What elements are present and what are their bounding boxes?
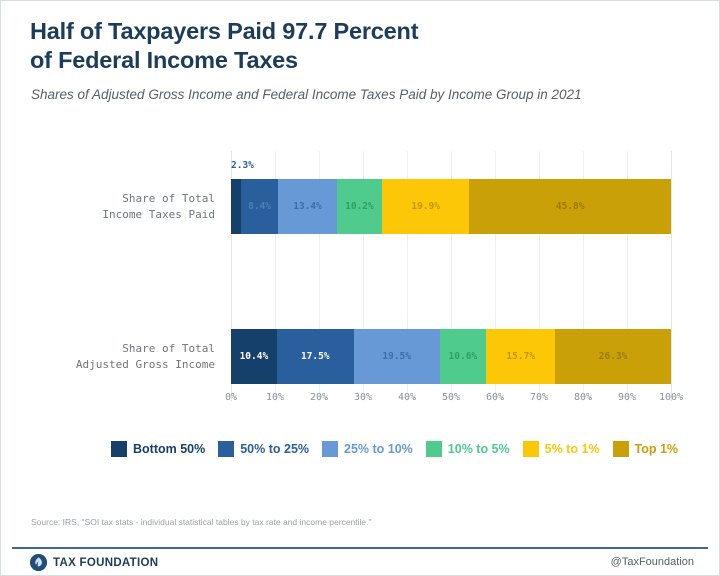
stacked-bar: 8.4%13.4%10.2%19.9%45.8% <box>231 179 671 234</box>
bar-segment[interactable]: 10.2% <box>337 179 382 234</box>
legend-item[interactable]: 5% to 1% <box>523 441 600 457</box>
bar-segment[interactable]: 17.5% <box>277 329 354 384</box>
legend-label: 25% to 10% <box>344 442 413 456</box>
social-handle: @TaxFoundation <box>611 556 694 568</box>
bar-segment[interactable]: 45.8% <box>469 179 671 234</box>
legend-label: 10% to 5% <box>448 442 510 456</box>
footer-bar: TAX FOUNDATION @TaxFoundation <box>12 549 708 576</box>
legend-swatch <box>322 441 338 457</box>
chart-title-line-2: of Federal Income Taxes <box>30 47 298 73</box>
legend-label: Top 1% <box>635 442 679 456</box>
source-note: Source: IRS, "SOI tax stats - individual… <box>31 517 372 527</box>
chart-subtitle: Shares of Adjusted Gross Income and Fede… <box>31 85 671 104</box>
x-tick-label: 30% <box>354 392 372 403</box>
bar-segment[interactable]: 10.6% <box>440 329 487 384</box>
x-tick-label: 100% <box>659 392 683 403</box>
plot-area: 0%10%20%30%40%50%60%70%80%90%100% 8.4%13… <box>231 151 671 401</box>
x-tick-label: 70% <box>530 392 548 403</box>
x-tick-label: 10% <box>266 392 284 403</box>
legend-swatch <box>111 441 127 457</box>
legend-swatch <box>613 441 629 457</box>
category-label-line-2: Adjusted Gross Income <box>76 358 215 371</box>
x-tick-label: 80% <box>574 392 592 403</box>
legend-swatch <box>426 441 442 457</box>
bar-segment[interactable]: 19.9% <box>382 179 470 234</box>
bar-row: 8.4%13.4%10.2%19.9%45.8% <box>231 179 671 234</box>
category-label-line-1: Share of Total <box>122 192 215 205</box>
category-label-line-1: Share of Total <box>122 342 215 355</box>
x-tick-label: 90% <box>618 392 636 403</box>
legend-item[interactable]: 10% to 5% <box>426 441 510 457</box>
category-label: Share of TotalAdjusted Gross Income <box>35 341 215 373</box>
chart-title: Half of Taxpayers Paid 97.7 Percent of F… <box>30 17 590 75</box>
x-tick-label: 20% <box>310 392 328 403</box>
category-label: Share of TotalIncome Taxes Paid <box>35 191 215 223</box>
bar-segment[interactable]: 8.4% <box>241 179 278 234</box>
legend-item[interactable]: 50% to 25% <box>218 441 309 457</box>
chart-title-line-1: Half of Taxpayers Paid 97.7 Percent <box>30 18 418 44</box>
bar-segment[interactable]: 13.4% <box>278 179 337 234</box>
bar-segment[interactable]: 10.4% <box>231 329 277 384</box>
bar-segment[interactable]: 26.3% <box>555 329 671 384</box>
segment-outside-label: 2.3% <box>231 160 254 171</box>
bar-segment[interactable]: 19.5% <box>354 329 440 384</box>
bar-segment[interactable] <box>231 179 241 234</box>
tax-foundation-logo-icon <box>30 554 47 571</box>
x-tick-label: 0% <box>225 392 237 403</box>
bar-row: 10.4%17.5%19.5%10.6%15.7%26.3% <box>231 329 671 384</box>
legend-item[interactable]: Bottom 50% <box>111 441 205 457</box>
stacked-bar: 10.4%17.5%19.5%10.6%15.7%26.3% <box>231 329 671 384</box>
x-tick-label: 60% <box>486 392 504 403</box>
legend-item[interactable]: 25% to 10% <box>322 441 413 457</box>
brand-lockup: TAX FOUNDATION <box>30 554 158 571</box>
legend-swatch <box>218 441 234 457</box>
brand-name: TAX FOUNDATION <box>53 557 158 569</box>
gridline <box>671 151 672 401</box>
legend-swatch <box>523 441 539 457</box>
x-tick-label: 50% <box>442 392 460 403</box>
chart-card: Half of Taxpayers Paid 97.7 Percent of F… <box>0 0 720 576</box>
category-label-line-2: Income Taxes Paid <box>102 208 215 221</box>
legend-label: 5% to 1% <box>545 442 600 456</box>
bar-segment[interactable]: 15.7% <box>486 329 555 384</box>
chart-legend: Bottom 50%50% to 25%25% to 10%10% to 5%5… <box>111 441 691 457</box>
legend-label: Bottom 50% <box>133 442 205 456</box>
x-tick-label: 40% <box>398 392 416 403</box>
legend-item[interactable]: Top 1% <box>613 441 679 457</box>
legend-label: 50% to 25% <box>240 442 309 456</box>
